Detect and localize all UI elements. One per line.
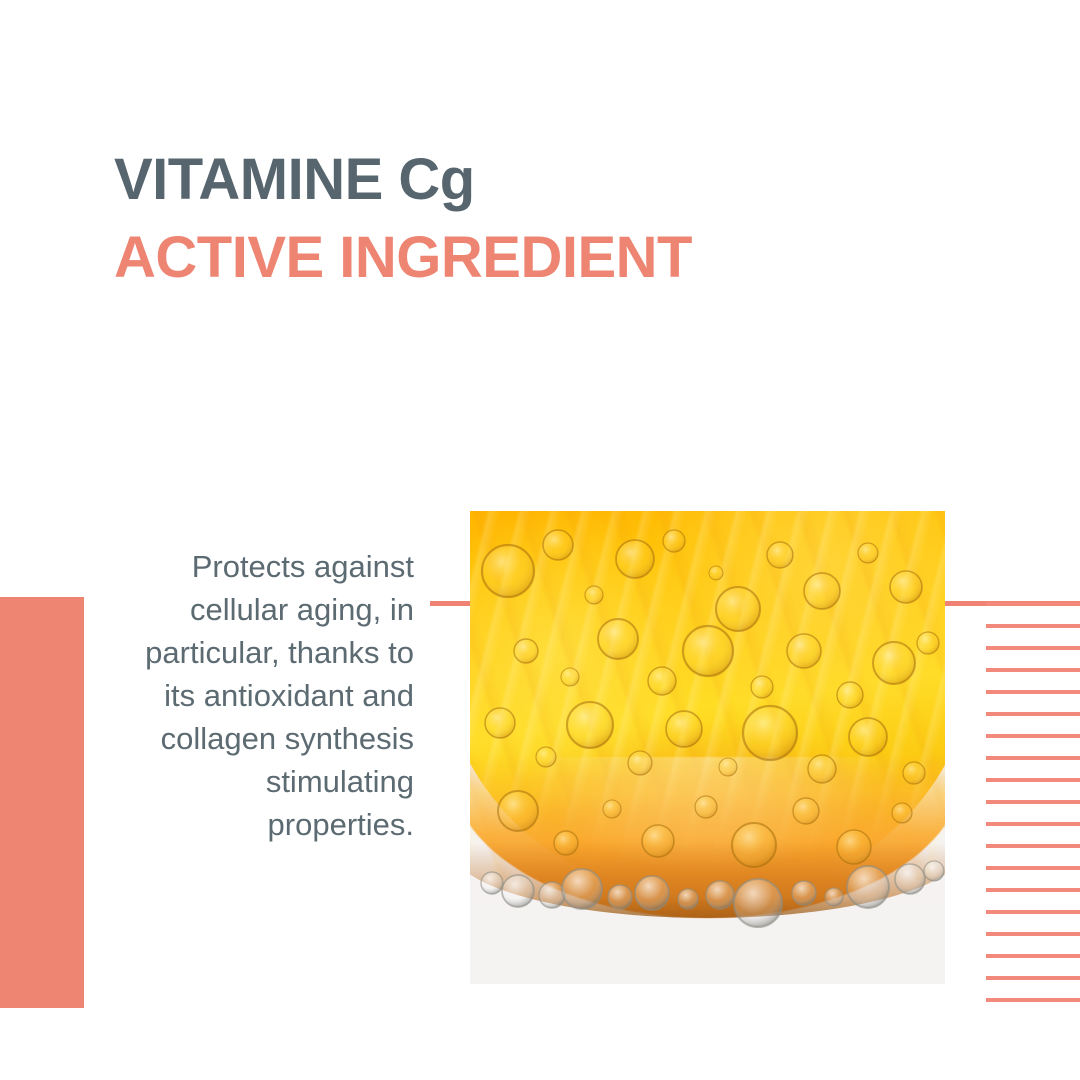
decorative-line-pattern — [986, 602, 1080, 1020]
decorative-rule — [986, 800, 1080, 804]
decorative-rule — [986, 866, 1080, 870]
decorative-rule — [986, 602, 1080, 606]
decorative-rule — [986, 668, 1080, 672]
headline-line-secondary: ACTIVE INGREDIENT — [114, 219, 934, 297]
decorative-rule — [986, 624, 1080, 628]
page-title: VITAMINE Cg ACTIVE INGREDIENT — [114, 141, 934, 297]
decorative-rule — [986, 998, 1080, 1002]
bubbles-overlay — [470, 511, 945, 984]
decorative-rule — [986, 734, 1080, 738]
text-to-image-connector — [430, 601, 472, 606]
decorative-rule — [986, 822, 1080, 826]
decorative-rule — [986, 976, 1080, 980]
decorative-rule — [986, 690, 1080, 694]
decorative-rule — [986, 888, 1080, 892]
decorative-rule — [986, 932, 1080, 936]
orange-slice-photo — [470, 511, 945, 984]
decorative-rule — [986, 712, 1080, 716]
body-paragraph: Protects against cellular aging, in part… — [122, 545, 414, 846]
decorative-rule — [986, 954, 1080, 958]
headline-line-primary: VITAMINE Cg — [114, 141, 934, 219]
decorative-rule — [986, 756, 1080, 760]
decorative-rule — [986, 844, 1080, 848]
coral-accent-block — [0, 597, 84, 1008]
decorative-rule — [986, 646, 1080, 650]
poster-canvas: VITAMINE Cg ACTIVE INGREDIENT Protects a… — [0, 0, 1080, 1080]
decorative-rule — [986, 910, 1080, 914]
decorative-rule — [986, 778, 1080, 782]
